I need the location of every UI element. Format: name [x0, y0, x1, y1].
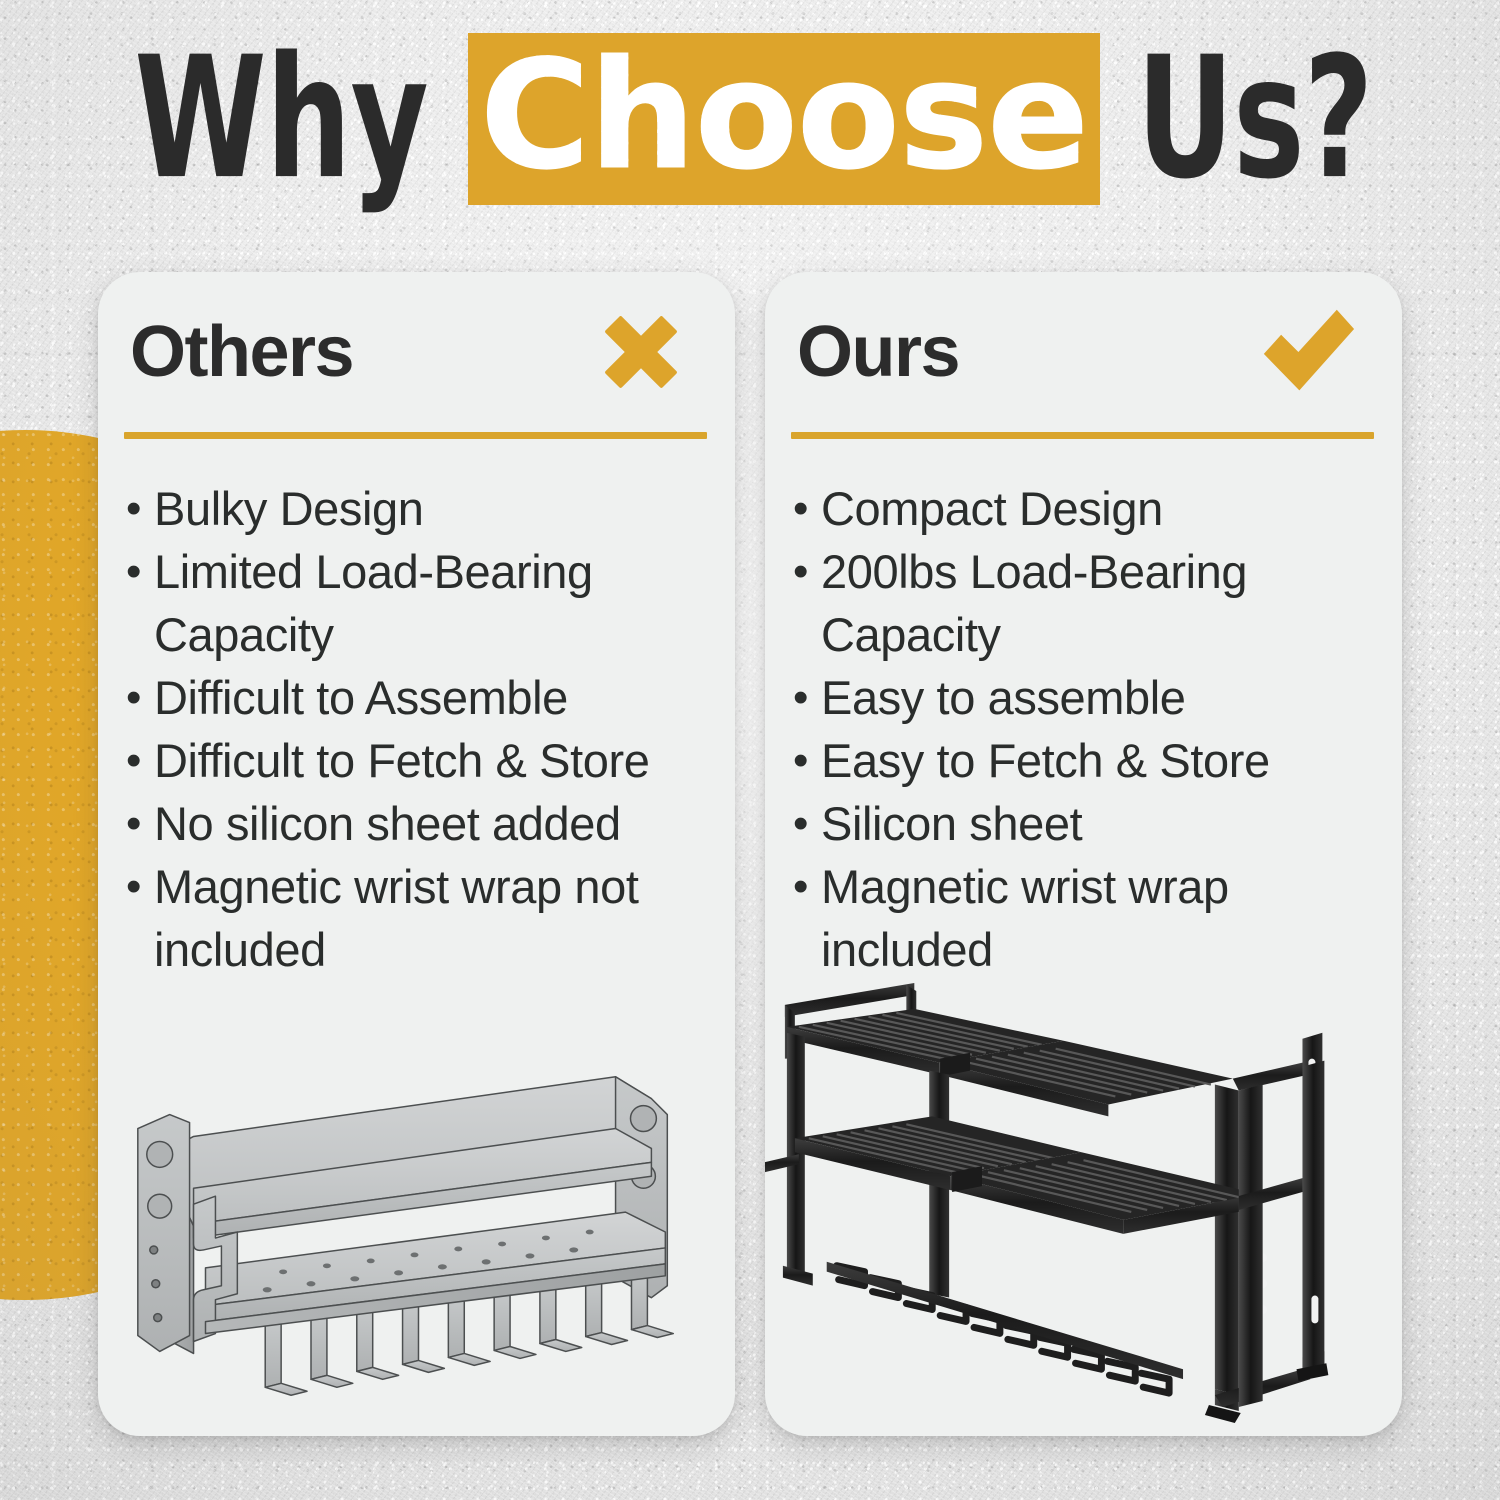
card-ours: Ours • Compact Design • 200lbs Load-Bear…: [765, 272, 1402, 1436]
bullet-dot: •: [126, 477, 154, 540]
card-ours-title: Ours: [797, 316, 959, 388]
title-highlight-block: Choose: [468, 33, 1100, 205]
bullet-dot: •: [126, 540, 154, 603]
title-word-choose: Choose: [480, 29, 1088, 203]
bullet-text: Silicon sheet: [821, 792, 1368, 855]
others-product-illustration: [98, 1036, 735, 1436]
bullet-dot: •: [793, 540, 821, 603]
bullet-dot: •: [793, 477, 821, 540]
bullet-text: No silicon sheet added: [154, 792, 701, 855]
list-item: • Bulky Design: [126, 477, 701, 540]
bullet-dot: •: [793, 729, 821, 792]
list-item: • Difficult to Fetch & Store: [126, 729, 701, 792]
ours-product-photo: [765, 966, 1402, 1436]
bullet-text: Bulky Design: [154, 477, 701, 540]
list-item: • Magnetic wrist wrap not included: [126, 855, 701, 981]
bullet-text: Compact Design: [821, 477, 1368, 540]
list-item: • No silicon sheet added: [126, 792, 701, 855]
bullet-dot: •: [793, 855, 821, 918]
bullet-dot: •: [126, 792, 154, 855]
card-others-bullet-list: • Bulky Design • Limited Load-Bearing Ca…: [98, 439, 735, 981]
bullet-text: Magnetic wrist wrap included: [821, 855, 1368, 981]
bullet-text: Limited Load-Bearing Capacity: [154, 540, 701, 666]
card-ours-divider: [791, 432, 1374, 439]
bullet-dot: •: [793, 792, 821, 855]
bullet-text: Difficult to Fetch & Store: [154, 729, 701, 792]
list-item: • Easy to Fetch & Store: [793, 729, 1368, 792]
bullet-dot: •: [793, 666, 821, 729]
list-item: • Difficult to Assemble: [126, 666, 701, 729]
bullet-dot: •: [126, 666, 154, 729]
card-others-header: Others: [98, 272, 735, 432]
cross-icon: [593, 304, 689, 400]
comparison-cards: Others • Bulky Design •: [98, 272, 1402, 1436]
card-others-divider: [124, 432, 707, 439]
list-item: • 200lbs Load-Bearing Capacity: [793, 540, 1368, 666]
title-word-us: Us?: [1128, 35, 1372, 203]
infographic-root: Why Choose Us? Others: [0, 0, 1500, 1500]
check-icon: [1260, 304, 1356, 400]
card-ours-header: Ours: [765, 272, 1402, 432]
card-others-title: Others: [130, 316, 353, 388]
list-item: • Limited Load-Bearing Capacity: [126, 540, 701, 666]
title-word-why: Why: [134, 35, 432, 203]
list-item: • Compact Design: [793, 477, 1368, 540]
list-item: • Silicon sheet: [793, 792, 1368, 855]
card-ours-bullet-list: • Compact Design • 200lbs Load-Bearing C…: [765, 439, 1402, 981]
bullet-text: Magnetic wrist wrap not included: [154, 855, 701, 981]
bullet-text: 200lbs Load-Bearing Capacity: [821, 540, 1368, 666]
bullet-dot: •: [126, 855, 154, 918]
bullet-text: Difficult to Assemble: [154, 666, 701, 729]
card-others: Others • Bulky Design •: [98, 272, 735, 1436]
bullet-text: Easy to assemble: [821, 666, 1368, 729]
list-item: • Easy to assemble: [793, 666, 1368, 729]
bullet-text: Easy to Fetch & Store: [821, 729, 1368, 792]
list-item: • Magnetic wrist wrap included: [793, 855, 1368, 981]
page-title: Why Choose Us?: [0, 26, 1500, 211]
bullet-dot: •: [126, 729, 154, 792]
